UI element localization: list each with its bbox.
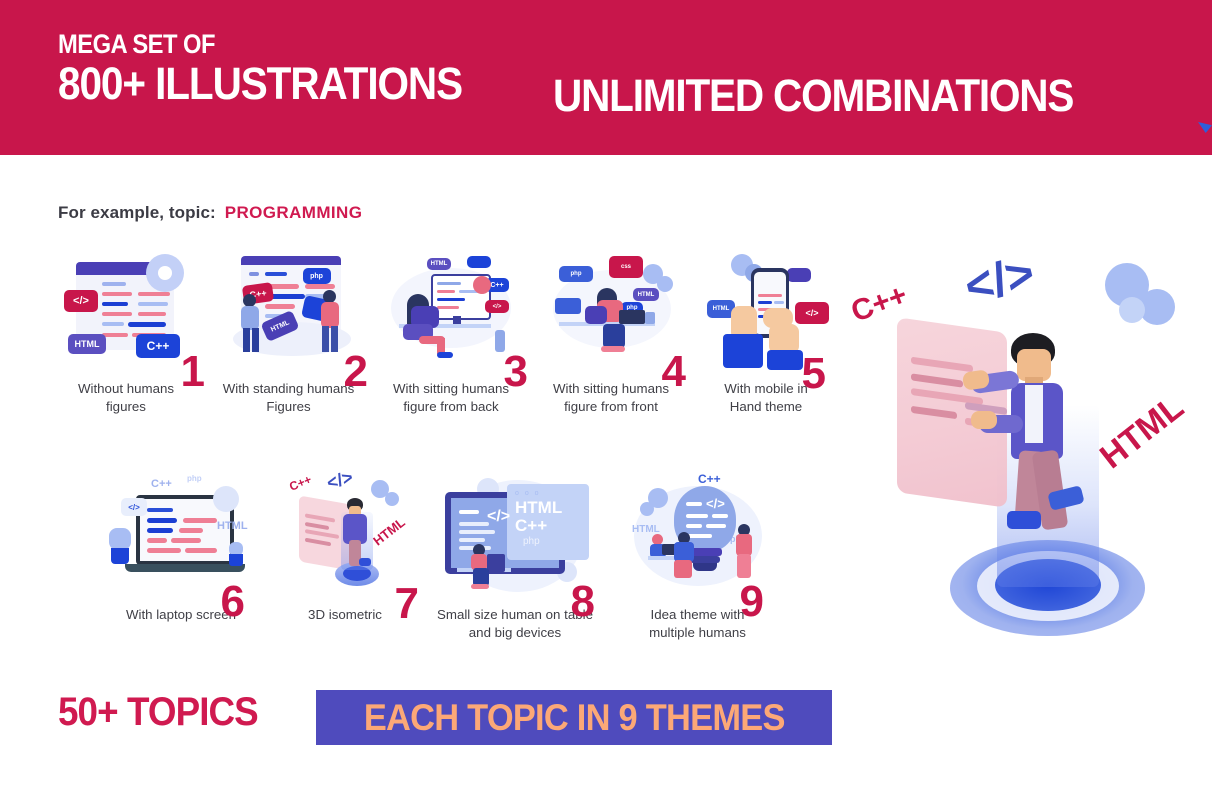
hero-shoe-back: [1007, 511, 1041, 529]
theme-card-3[interactable]: HTML C++ </> 3 With sitting humans figur…: [371, 250, 531, 416]
sitting-back-icon: HTML C++ </>: [381, 250, 521, 372]
code-window-icon: </> HTML C++: [62, 250, 190, 372]
hero-gear-icon-3: [1119, 297, 1145, 323]
theme-number: 1: [181, 350, 204, 394]
standing-humans-icon: php C++ HTML: [219, 250, 359, 372]
theme-card-1[interactable]: </> HTML C++ 1 Without humans figures: [46, 250, 206, 416]
theme-caption: With standing humans Figures: [223, 380, 355, 416]
isometric-figure-icon: C++ </> HTML: [275, 468, 415, 598]
theme-grid-row-2: </> C++ php HTML 6 With laptop screen C+…: [92, 468, 792, 642]
theme-number: 8: [571, 580, 594, 624]
theme-card-2[interactable]: php C++ HTML 2 With standing humans Figu…: [206, 250, 371, 416]
theme-number: 3: [504, 350, 527, 394]
footer-topics-text: 50+ TOPICS: [58, 690, 258, 735]
theme-grid-row-1: </> HTML C++ 1 Without humans figures ph…: [46, 250, 856, 416]
hero-hand-lower: [971, 411, 997, 429]
theme-number: 9: [740, 580, 763, 624]
theme-card-7[interactable]: C++ </> HTML 7 3D isometric: [270, 468, 420, 642]
theme-caption: Without humans figures: [78, 380, 174, 416]
hero-html-label: HTML: [1093, 388, 1191, 477]
banner-arrow-icon: [1198, 122, 1212, 133]
theme-card-5[interactable]: HTML </> 5 With mobile in Hand theme: [691, 250, 841, 416]
theme-card-6[interactable]: </> C++ php HTML 6 With laptop screen: [92, 468, 270, 642]
theme-card-8[interactable]: o o o HTML C++ php </> 8 Small size huma…: [420, 468, 610, 642]
theme-caption: With mobile in Hand theme: [724, 380, 808, 416]
hero-shirt: [1025, 385, 1043, 443]
theme-caption: 3D isometric: [308, 606, 382, 624]
hero-illustration: C++ </> HTML: [845, 245, 1205, 670]
theme-card-4[interactable]: php css HTML php 4 With sitting humans f…: [531, 250, 691, 416]
banner-subtitle: MEGA SET OF: [58, 30, 453, 58]
sitting-front-icon: php css HTML php: [541, 250, 681, 372]
topic-value: PROGRAMMING: [225, 203, 363, 222]
topic-example-line: For example, topic:PROGRAMMING: [58, 203, 362, 223]
banner-title: 800+ ILLUSTRATIONS: [58, 60, 462, 109]
theme-caption: With sitting humans figure from front: [553, 380, 669, 416]
theme-number: 7: [395, 582, 418, 626]
theme-card-9[interactable]: C++ HTML php </> 9: [610, 468, 785, 642]
footer-themes-text: EACH TOPIC IN 9 THEMES: [364, 697, 785, 739]
topic-label: For example, topic:: [58, 203, 216, 222]
theme-caption: Idea theme with multiple humans: [649, 606, 746, 642]
footer-themes-block: EACH TOPIC IN 9 THEMES: [316, 690, 832, 745]
banner-title-group: MEGA SET OF 800+ ILLUSTRATIONS: [58, 30, 507, 109]
theme-number: 5: [802, 352, 825, 396]
hero-code-label: </>: [959, 245, 1040, 315]
theme-caption: With sitting humans figure from back: [393, 380, 509, 416]
theme-number: 6: [221, 580, 244, 624]
theme-number: 4: [662, 350, 685, 394]
banner-tagline: UNLIMITED COMBINATIONS: [553, 70, 1073, 122]
theme-number: 2: [344, 350, 367, 394]
header-banner: MEGA SET OF 800+ ILLUSTRATIONS UNLIMITED…: [0, 0, 1212, 155]
